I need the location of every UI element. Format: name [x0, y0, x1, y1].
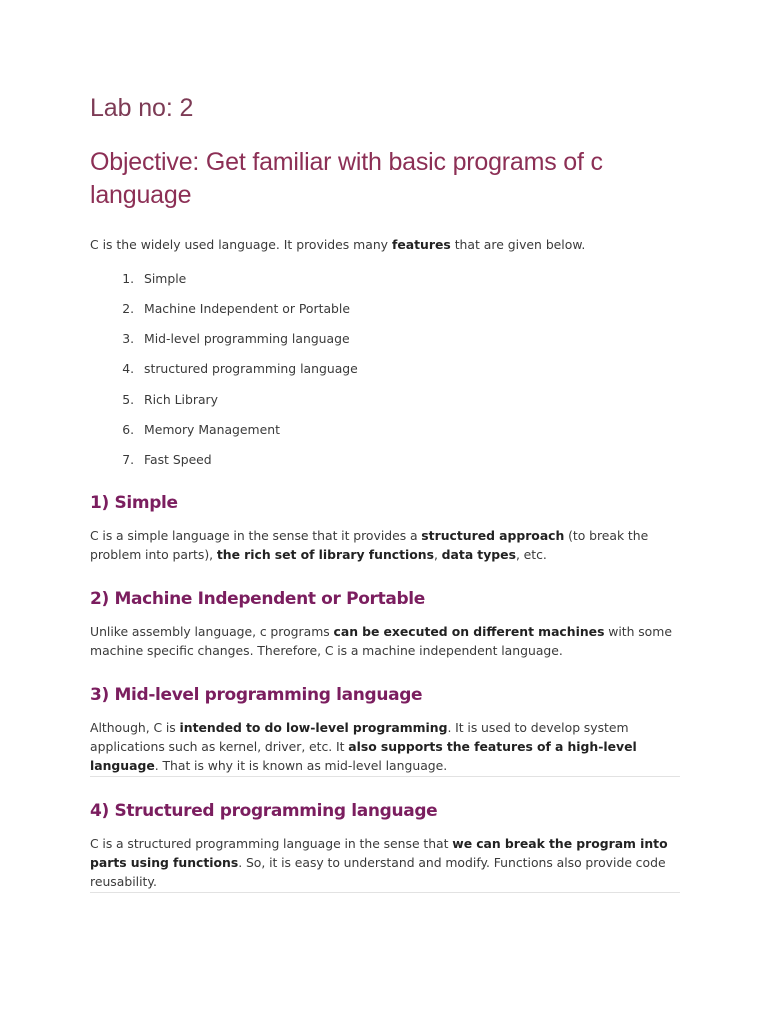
objective-heading: Objective: Get familiar with basic progr… [90, 146, 690, 211]
paragraph-bold-run: can be executed on different machines [333, 624, 604, 639]
paragraph-text-run: Although, C is [90, 720, 180, 735]
sections-container: 1) SimpleC is a simple language in the s… [90, 493, 680, 893]
paragraph-text-run: , etc. [516, 547, 547, 562]
section-heading: 2) Machine Independent or Portable [90, 589, 680, 609]
paragraph-text-run: C is a structured programming language i… [90, 836, 452, 851]
section-1: 1) SimpleC is a simple language in the s… [90, 493, 680, 565]
intro-text-after: that are given below. [451, 237, 586, 252]
paragraph-text-run: Unlike assembly language, c programs [90, 624, 333, 639]
section-2: 2) Machine Independent or PortableUnlike… [90, 589, 680, 661]
intro-text-before: C is the widely used language. It provid… [90, 237, 392, 252]
paragraph-bold-run: data types [442, 547, 516, 562]
list-item: Simple [138, 271, 680, 288]
paragraph-bold-run: structured approach [421, 528, 564, 543]
list-item: Memory Management [138, 422, 680, 439]
section-heading: 1) Simple [90, 493, 680, 513]
section-paragraph: C is a simple language in the sense that… [90, 527, 680, 565]
list-item: Mid-level programming language [138, 331, 680, 348]
feature-list: SimpleMachine Independent or PortableMid… [90, 271, 680, 469]
section-4: 4) Structured programming languageC is a… [90, 801, 680, 892]
document-page: Lab no: 2 Objective: Get familiar with b… [0, 0, 768, 1024]
list-item: Rich Library [138, 392, 680, 409]
paragraph-text-run: , [434, 547, 442, 562]
section-paragraph: Unlike assembly language, c programs can… [90, 623, 680, 661]
section-heading: 4) Structured programming language [90, 801, 680, 821]
list-item: Machine Independent or Portable [138, 301, 680, 318]
section-paragraph: Although, C is intended to do low-level … [90, 719, 680, 776]
document-content: Lab no: 2 Objective: Get familiar with b… [90, 92, 680, 893]
list-item: Fast Speed [138, 452, 680, 469]
section-3: 3) Mid-level programming languageAlthoug… [90, 685, 680, 776]
section-divider [90, 776, 680, 777]
section-heading: 3) Mid-level programming language [90, 685, 680, 705]
intro-paragraph: C is the widely used language. It provid… [90, 236, 680, 255]
intro-bold-features: features [392, 237, 451, 252]
section-paragraph: C is a structured programming language i… [90, 835, 680, 892]
paragraph-text-run: . That is why it is known as mid-level l… [155, 758, 447, 773]
list-item: structured programming language [138, 361, 680, 378]
paragraph-text-run: C is a simple language in the sense that… [90, 528, 421, 543]
section-divider [90, 892, 680, 893]
paragraph-bold-run: the rich set of library functions [217, 547, 434, 562]
page-title: Lab no: 2 [90, 92, 680, 124]
paragraph-bold-run: intended to do low-level programming [180, 720, 448, 735]
